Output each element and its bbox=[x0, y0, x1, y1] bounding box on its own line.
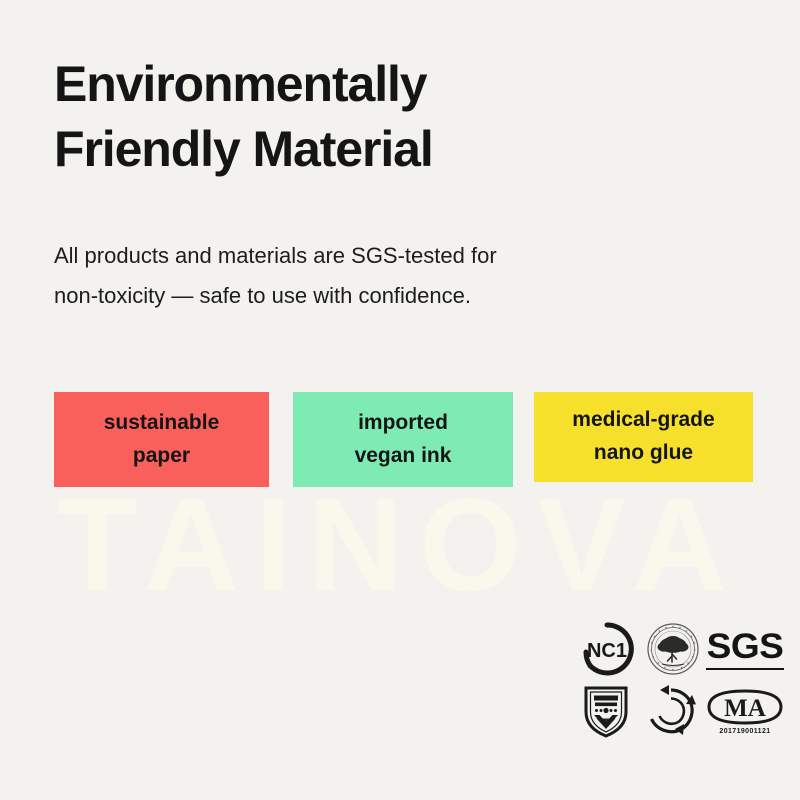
nc1-certification-badge-icon: NC1 bbox=[578, 621, 636, 677]
sgs-underline bbox=[706, 668, 784, 670]
chip-label-line-2: nano glue bbox=[594, 437, 693, 470]
cma-certificate-number: 201719001121 bbox=[719, 728, 770, 735]
chip-label-line-1: sustainable bbox=[104, 407, 220, 440]
svg-text:MA: MA bbox=[724, 695, 766, 722]
chip-label-line-1: imported bbox=[358, 407, 448, 440]
shield-quality-badge-icon bbox=[578, 682, 634, 740]
material-chip-imported-vegan-ink: imported vegan ink bbox=[293, 392, 513, 487]
chip-label-line-2: vegan ink bbox=[355, 440, 452, 473]
page-title-line-1: Environmentally bbox=[54, 52, 654, 117]
chip-label-line-2: paper bbox=[133, 440, 190, 473]
sgs-wordmark: SGS bbox=[704, 629, 787, 664]
svg-text:NC1: NC1 bbox=[587, 640, 627, 662]
page-description-line-1: All products and materials are SGS-teste… bbox=[54, 236, 674, 276]
material-chip-medical-grade-nano-glue: medical-grade nano glue bbox=[534, 392, 753, 482]
recycling-symbol-badge-icon bbox=[642, 683, 700, 739]
poster-canvas: TAINOVA Environmentally Friendly Materia… bbox=[0, 0, 800, 800]
page-title-line-2: Friendly Material bbox=[54, 117, 654, 182]
sgs-certification-badge-icon: SGS bbox=[706, 625, 784, 673]
page-description: All products and materials are SGS-teste… bbox=[54, 236, 674, 316]
page-description-line-2: non-toxicity — safe to use with confiden… bbox=[54, 276, 674, 316]
certification-badge-row-bottom: MA 201719001121 bbox=[578, 682, 784, 740]
material-chip-sustainable-paper: sustainable paper bbox=[54, 392, 269, 487]
page-title: Environmentally Friendly Material bbox=[54, 52, 654, 181]
certification-badge-group: NC1 bbox=[578, 620, 784, 746]
material-chip-group: sustainable paper imported vegan ink med… bbox=[54, 392, 754, 492]
cma-certification-badge-icon: MA 201719001121 bbox=[704, 682, 786, 740]
certification-badge-row-top: NC1 bbox=[578, 620, 784, 678]
forest-tree-seal-badge-icon bbox=[642, 620, 704, 678]
brand-watermark: TAINOVA bbox=[0, 479, 800, 611]
chip-label-line-1: medical-grade bbox=[572, 404, 714, 437]
